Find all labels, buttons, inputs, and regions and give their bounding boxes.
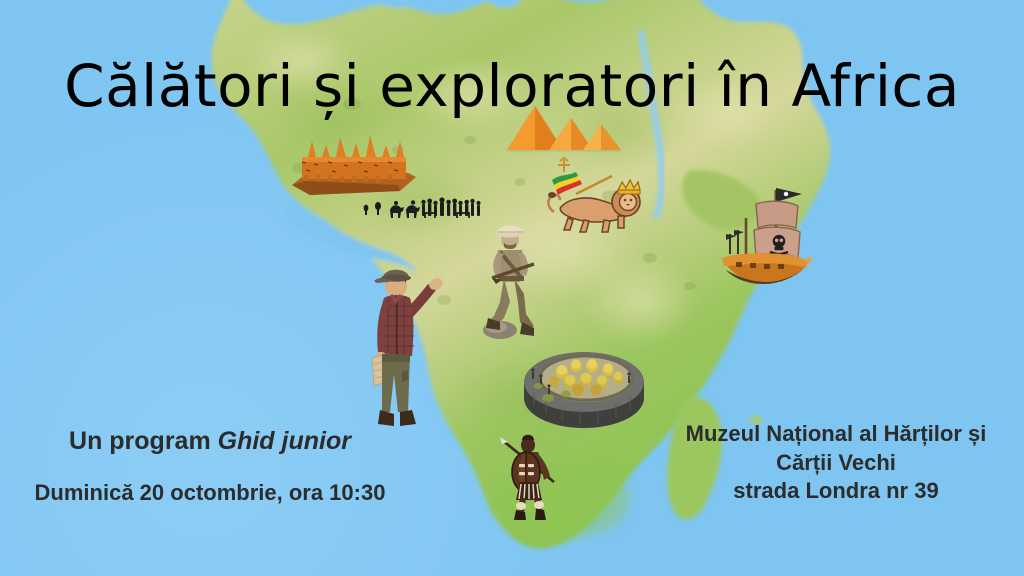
boy-guide-image <box>356 254 446 448</box>
event-poster: Călători și exploratori în Africa Un pro… <box>0 0 1024 576</box>
zulu-warrior-image <box>498 432 566 522</box>
program-info-block: Un program Ghid junior Duminică 20 octom… <box>10 426 410 507</box>
program-prefix: Un program <box>69 427 218 455</box>
page-title: Călători și exploratori în Africa <box>0 56 1024 117</box>
explorer-image <box>470 218 550 340</box>
program-name: Ghid junior <box>218 427 351 455</box>
venue-info-block: Muzeul Național al Hărților și Cărții Ve… <box>648 420 1024 506</box>
lion-of-judah-image <box>538 158 654 238</box>
venue-line-2: Cărții Vechi <box>648 449 1024 478</box>
venue-line-1: Muzeul Național al Hărților și <box>648 420 1024 449</box>
fortified-village-image <box>518 336 650 430</box>
djenne-mosque-image <box>288 133 420 199</box>
program-line: Un program Ghid junior <box>10 426 410 457</box>
program-datetime: Duminică 20 octombrie, ora 10:30 <box>10 479 410 507</box>
pirate-ship-image <box>716 182 814 286</box>
venue-address: strada Londra nr 39 <box>648 477 1024 506</box>
